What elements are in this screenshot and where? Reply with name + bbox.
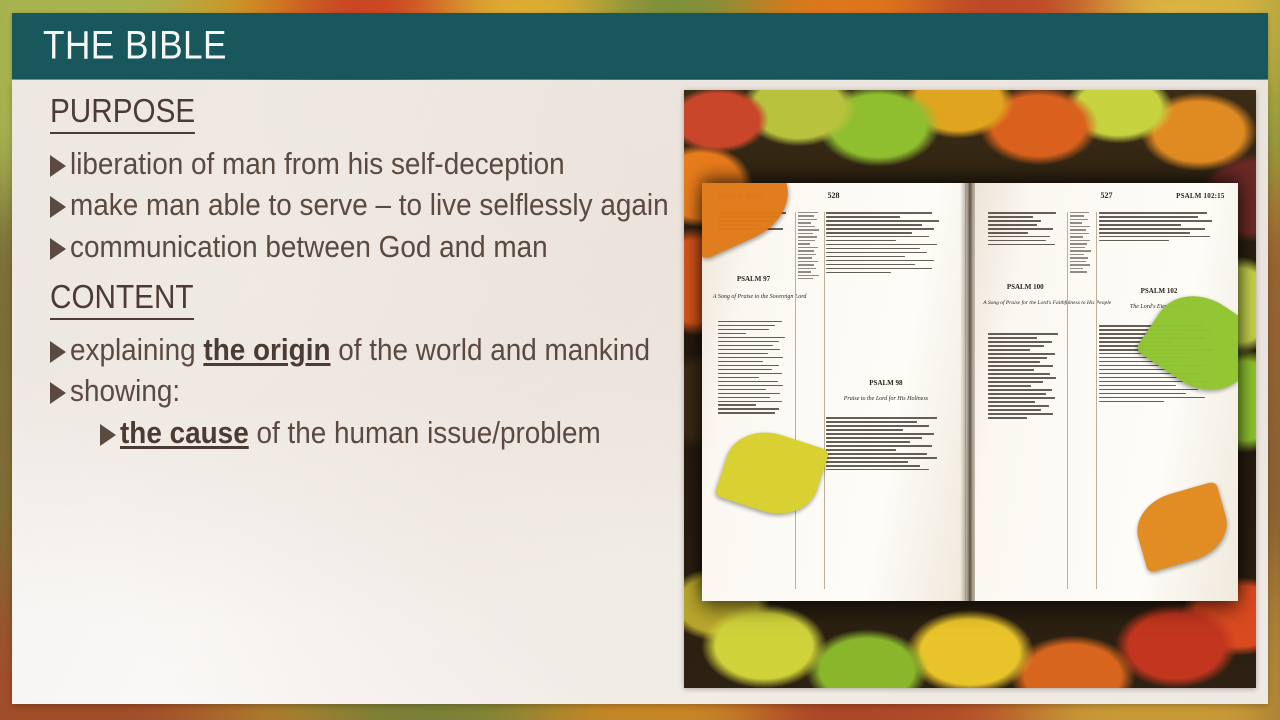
bullet-item-sub: the cause of the human issue/problem	[50, 413, 680, 452]
bullet-item: communication between God and man	[50, 227, 680, 266]
section-heading-content: CONTENT	[50, 278, 194, 320]
bullet-label: liberation of man from his self-deceptio…	[70, 144, 565, 183]
section-heading-purpose: PURPOSE	[50, 92, 195, 134]
left-psalm-subtitle-2: Praise to the Lord for His Holiness	[820, 396, 951, 402]
bullet-text-pre: explaining	[70, 332, 203, 367]
left-psalm-subtitle-1: A Song of Praise to the Sovereign Lord	[713, 294, 794, 300]
bullet-label: communication between God and man	[70, 227, 548, 266]
left-page-column-c	[826, 212, 947, 273]
left-psalm-title-1: PSALM 97	[718, 275, 789, 283]
slide: THE BIBLE PURPOSE liberation of man from…	[0, 0, 1280, 720]
right-page-running-head: PSALM 102:15	[1176, 192, 1224, 200]
left-page-column-d	[826, 417, 947, 470]
bullet-text-emphasis: the cause	[120, 415, 249, 450]
triangle-bullet-icon	[100, 424, 116, 446]
right-psalm-title-2: PSALM 102	[1099, 287, 1220, 295]
right-psalm-subtitle-1: A Song of Praise for the Lord's Faithful…	[983, 300, 1067, 306]
triangle-bullet-icon	[50, 238, 66, 260]
right-page-column-a	[988, 212, 1061, 245]
slide-title-bar: THE BIBLE	[12, 13, 1268, 79]
open-bible-image: PSALM 96:13 528 PSALM 97 A Song of Prais…	[684, 90, 1256, 688]
bullet-text-emphasis: the origin	[203, 332, 330, 367]
left-page-column-b	[718, 321, 789, 414]
slide-body-text: PURPOSE liberation of man from his self-…	[50, 92, 680, 454]
bullet-item: explaining the origin of the world and m…	[50, 330, 680, 369]
bullet-label: showing:	[70, 371, 180, 410]
bullet-label-rich: explaining the origin of the world and m…	[70, 330, 650, 369]
bullet-label: make man able to serve – to live selfles…	[70, 185, 669, 224]
bullet-item: showing:	[50, 371, 680, 410]
bullet-label-rich: the cause of the human issue/problem	[120, 413, 601, 452]
bullet-text-post: of the human issue/problem	[249, 415, 601, 450]
section-heading-purpose-wrap: PURPOSE	[50, 92, 680, 137]
triangle-bullet-icon	[50, 341, 66, 363]
right-page-column-b	[988, 333, 1061, 418]
right-page-reference-column	[1067, 212, 1097, 589]
triangle-bullet-icon	[50, 155, 66, 177]
right-psalm-title-1: PSALM 100	[988, 283, 1061, 291]
bullet-item: liberation of man from his self-deceptio…	[50, 144, 680, 183]
triangle-bullet-icon	[50, 382, 66, 404]
bullet-text-post: of the world and mankind	[330, 332, 649, 367]
open-book: PSALM 96:13 528 PSALM 97 A Song of Prais…	[702, 183, 1237, 602]
bullet-item: make man able to serve – to live selfles…	[50, 185, 680, 224]
section-heading-content-wrap: CONTENT	[50, 278, 680, 323]
book-left-page: PSALM 96:13 528 PSALM 97 A Song of Prais…	[702, 183, 965, 602]
triangle-bullet-icon	[50, 196, 66, 218]
right-page-column-c	[1099, 212, 1220, 241]
slide-content-panel: PURPOSE liberation of man from his self-…	[12, 80, 1268, 704]
page-title: THE BIBLE	[43, 24, 227, 69]
left-psalm-title-2: PSALM 98	[826, 379, 947, 387]
